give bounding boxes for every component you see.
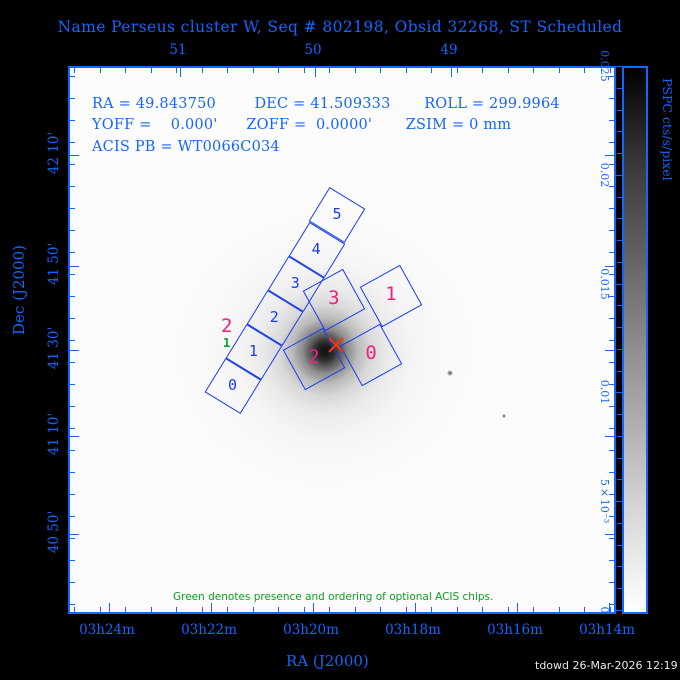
colorbar-tick (614, 501, 622, 502)
x-tick-label: 03h16m (487, 622, 543, 638)
colorbar-tick (617, 523, 622, 524)
acis-s-chip-label: 1 (249, 342, 258, 360)
y-tick-label: 41 50' (46, 243, 62, 285)
acis-s-chip-label: 3 (291, 274, 300, 292)
acis-i-chip-label: 3 (328, 287, 339, 309)
colorbar-tick (614, 610, 622, 611)
x-top-tick-label: 49 (440, 42, 457, 58)
acis-s-chip-label: 2 (270, 308, 279, 326)
x-axis-label: RA (J2000) (286, 652, 369, 670)
colorbar-tick (617, 88, 622, 89)
acis-i-chip-label: 0 (365, 342, 376, 364)
y-tick-label: 40 50' (46, 511, 62, 553)
colorbar-tick (617, 371, 622, 372)
colorbar-tick (614, 66, 622, 67)
x-tick-label: 03h20m (283, 622, 339, 638)
param-line-acis-pb: ACIS PB = WT0066C034 (92, 139, 280, 155)
y-tick-label: 41 10' (46, 413, 62, 455)
aimpoint-marker (327, 336, 345, 354)
colorbar-tick (617, 545, 622, 546)
colorbar (622, 66, 648, 614)
x-top-tick-label: 51 (169, 42, 186, 58)
colorbar-tick (617, 110, 622, 111)
acis-i-chip-label: 2 (308, 346, 319, 368)
optional-chip-order-marker: 1 (223, 336, 230, 350)
colorbar-tick (617, 305, 622, 306)
observation-visualizer: Name Perseus cluster W, Seq # 802198, Ob… (0, 0, 680, 680)
acis-s-chip-label: 0 (228, 376, 237, 394)
colorbar-tick (617, 262, 622, 263)
colorbar-tick (617, 414, 622, 415)
y-tick-label: 41 30' (46, 327, 62, 369)
y-tick-label: 42 10' (46, 132, 62, 174)
colorbar-tick (617, 153, 622, 154)
colorbar-tick-label: 5×10⁻³ (598, 479, 611, 523)
colorbar-tick (617, 566, 622, 567)
colorbar-tick-label: 0.01 (598, 380, 611, 405)
x-top-tick-label: 50 (304, 42, 321, 58)
colorbar-tick (614, 284, 622, 285)
y-axis-label: Dec (J2000) (10, 245, 28, 335)
acis-s-chip-label: 4 (312, 240, 321, 258)
acis-i-chip-label: 1 (385, 283, 396, 305)
page-title: Name Perseus cluster W, Seq # 802198, Ob… (0, 18, 680, 36)
colorbar-tick-label: 0.02 (598, 163, 611, 188)
colorbar-tick-label: 0 (598, 607, 611, 614)
colorbar-tick (617, 131, 622, 132)
colorbar-tick (617, 588, 622, 589)
param-line-offsets: YOFF = 0.000' ZOFF = 0.0000' ZSIM = 0 mm (92, 117, 511, 133)
colorbar-tick (617, 240, 622, 241)
param-line-ra-dec-roll: RA = 49.843750 DEC = 41.509333 ROLL = 29… (92, 96, 560, 112)
colorbar-tick (614, 175, 622, 176)
x-tick-label: 03h22m (181, 622, 237, 638)
acis-i-chip-label-alt: 2 (221, 315, 232, 337)
colorbar-tick (617, 479, 622, 480)
x-tick-label: 03h24m (79, 622, 135, 638)
legend-footnote: Green denotes presence and ordering of o… (173, 591, 493, 603)
colorbar-tick-label: 0.025 (598, 50, 611, 82)
colorbar-tick (617, 327, 622, 328)
colorbar-tick (617, 197, 622, 198)
colorbar-tick (614, 392, 622, 393)
acis-s-chip-label: 5 (332, 205, 341, 223)
colorbar-tick (617, 349, 622, 350)
colorbar-tick-label: 0.015 (598, 268, 611, 300)
x-tick-label: 03h14m (579, 622, 635, 638)
colorbar-tick (617, 458, 622, 459)
x-tick-label: 03h18m (385, 622, 441, 638)
colorbar-tick (617, 436, 622, 437)
colorbar-tick (617, 218, 622, 219)
timestamp: tdowd 26-Mar-2026 12:19 (535, 659, 678, 672)
colorbar-unit-label: PSPC cts/s/pixel (660, 78, 675, 181)
